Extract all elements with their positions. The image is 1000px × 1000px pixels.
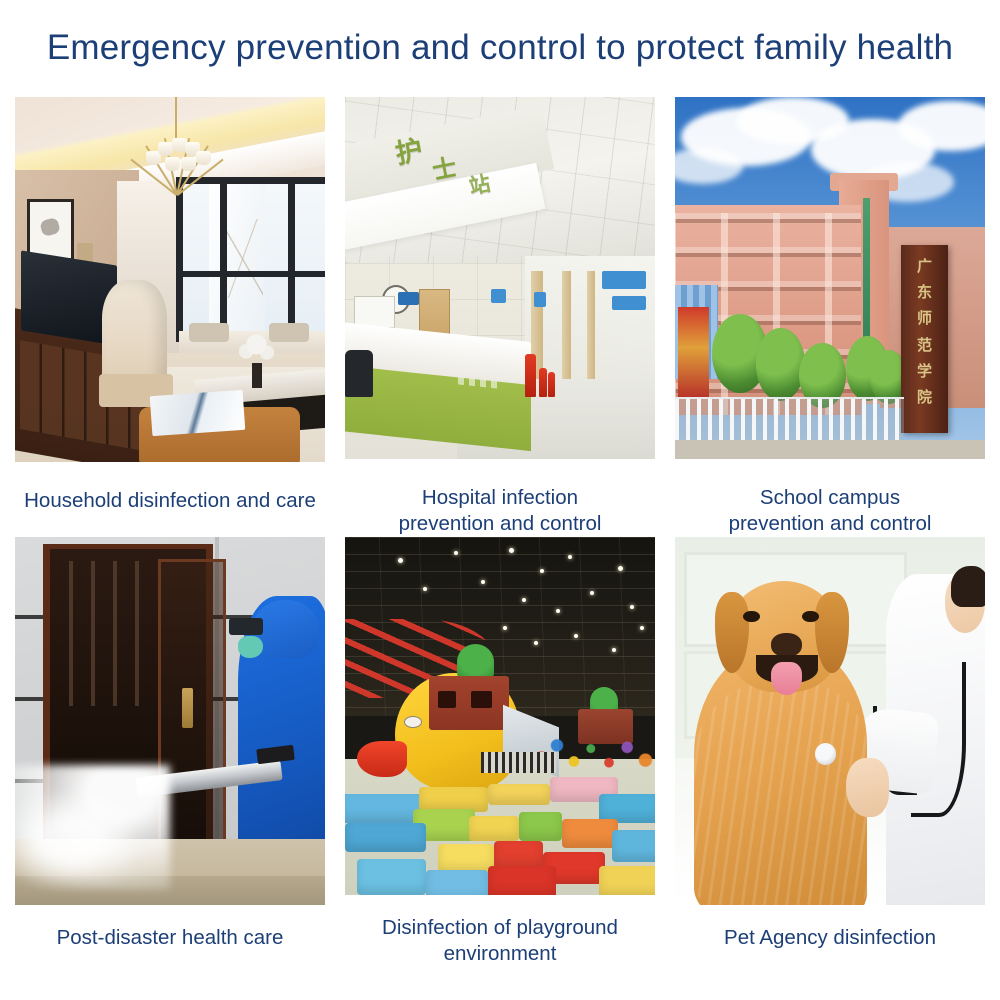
campus-sign-char-6: 院	[901, 386, 948, 407]
caption-household: Household disinfection and care	[24, 488, 316, 514]
fire-extinguisher-small-1	[539, 368, 547, 397]
goggles	[229, 618, 263, 635]
photo-household-living-room	[15, 97, 325, 462]
open-book	[150, 389, 246, 436]
play-house	[429, 676, 510, 730]
foam-block	[438, 844, 494, 873]
flower-vase	[238, 327, 275, 385]
tile-pet-agency[interactable]: Pet Agency disinfection	[675, 537, 985, 967]
foam-block	[612, 830, 655, 862]
foam-block	[469, 816, 519, 841]
caption-post-disaster: Post-disaster health care	[57, 925, 284, 951]
campus-sign-char-4: 范	[901, 334, 948, 355]
photo-indoor-playground	[345, 537, 655, 895]
caption-school: School campus prevention and control	[729, 485, 932, 537]
campus-sign-char-1: 广	[901, 255, 948, 276]
photo-fogging-disinfection	[15, 537, 325, 905]
vet-hand	[846, 758, 889, 817]
campus-stone-sign: 广 东 师 范 学 院	[901, 245, 948, 433]
photo-school-campus: 广 东 师 范 学 院	[675, 97, 985, 459]
caption-pet-agency: Pet Agency disinfection	[724, 925, 936, 951]
caption-hospital: Hospital infection prevention and contro…	[399, 485, 602, 537]
stethoscope-chestpiece	[815, 743, 837, 765]
campus-sign-char-2: 东	[901, 281, 948, 302]
campus-sign-char-3: 师	[901, 307, 948, 328]
foam-block	[488, 784, 550, 805]
foam-block	[519, 812, 562, 841]
foam-block	[357, 859, 425, 895]
tile-playground[interactable]: Disinfection of playground environment	[345, 537, 655, 967]
tile-household[interactable]: Household disinfection and care	[15, 97, 325, 537]
caption-playground: Disinfection of playground environment	[382, 915, 618, 967]
foam-block	[599, 866, 655, 895]
foam-block	[345, 823, 426, 852]
office-chair	[345, 350, 373, 397]
door-handle	[182, 688, 193, 728]
tile-hospital[interactable]: 护 士 站	[345, 97, 655, 537]
photo-vet-with-dog	[675, 537, 985, 905]
fire-extinguisher-large	[525, 354, 536, 397]
foam-block	[488, 866, 556, 895]
window	[176, 177, 325, 341]
foam-block	[426, 870, 488, 895]
chandelier	[148, 137, 204, 195]
fire-extinguisher-small-2	[548, 372, 555, 397]
foam-block	[562, 819, 618, 848]
poster-root: Emergency prevention and control to prot…	[0, 0, 1000, 1000]
feature-grid: Household disinfection and care 护 士 站	[15, 97, 985, 967]
campus-sign-char-5: 学	[901, 360, 948, 381]
photo-hospital-corridor: 护 士 站	[345, 97, 655, 459]
page-title: Emergency prevention and control to prot…	[0, 28, 1000, 68]
tile-school[interactable]: 广 东 师 范 学 院 School campus prevention and…	[675, 97, 985, 537]
tile-post-disaster[interactable]: Post-disaster health care	[15, 537, 325, 967]
